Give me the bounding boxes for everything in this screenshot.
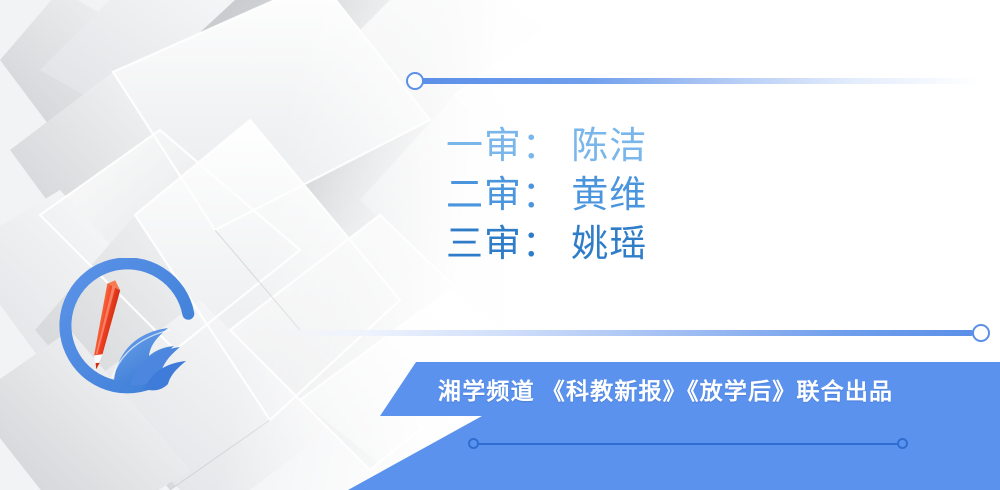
bottom-rule-knob-icon (972, 324, 990, 342)
wedge-rule-bar (474, 443, 902, 445)
credits-block: 一审： 陈洁 二审： 黄维 三审： 姚瑶 (446, 122, 916, 268)
wedge-rule-knob-right-icon (897, 438, 908, 449)
top-connector-rule (406, 72, 986, 90)
endcard-canvas: 一审： 陈洁 二审： 黄维 三审： 姚瑶 湘学频道 《科教新报》《放学后》联合出… (0, 0, 1000, 490)
title-band: 湘学频道 《科教新报》《放学后》联合出品 (380, 362, 1000, 416)
title-band-label: 湘学频道 《科教新报》《放学后》联合出品 (438, 362, 990, 416)
top-rule-knob-icon (406, 72, 424, 90)
bottom-rule-bar (268, 330, 974, 336)
bottom-connector-rule (268, 324, 990, 342)
pencil-book-circle-logo (52, 258, 212, 408)
wedge-rule-knob-left-icon (468, 438, 479, 449)
credit-line-second-review: 二审： 黄维 (446, 171, 916, 220)
wedge-decorative-rule (468, 438, 908, 450)
credit-line-first-review: 一审： 陈洁 (446, 122, 916, 171)
top-rule-bar (415, 78, 980, 84)
credit-line-third-review: 三审： 姚瑶 (446, 220, 916, 269)
